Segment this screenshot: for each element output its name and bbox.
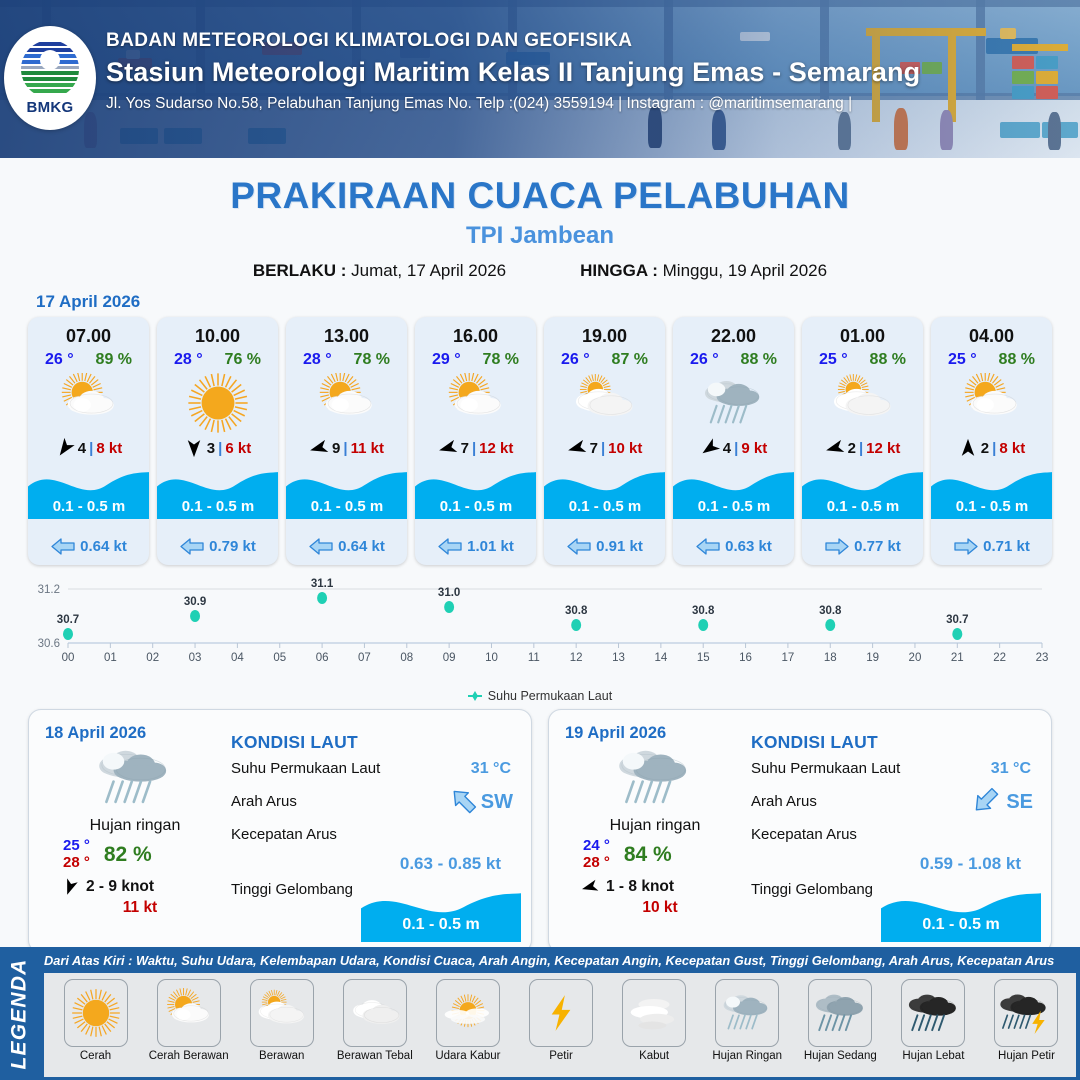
svg-text:31.1: 31.1 [311,578,334,590]
wind-separator: | [343,440,347,457]
forecast-wind: 4 | 9 kt [673,438,794,458]
kabut-icon [626,987,682,1039]
wind-separator: | [89,440,93,457]
daily-temperatures: 25 ° 28 ° 82 % [45,838,225,872]
svg-text:21: 21 [951,652,964,664]
forecast-time: 22.00 [673,326,794,347]
wind-gust: 12 kt [479,440,513,457]
current-speed-label: Kecepatan Arus [231,826,337,843]
daily-sea-column: KONDISI LAUT Suhu Permukaan Laut 31 °C A… [745,710,1051,952]
forecast-card: 07.00 26 ° 89 % 4 | 8 kt 0.1 - 0.5 m 0.6… [28,317,149,565]
berawan-icon [567,373,643,433]
svg-text:16: 16 [739,652,752,664]
svg-text:30.8: 30.8 [565,605,588,617]
forecast-card: 16.00 29 ° 78 % 7 | 12 kt 0.1 - 0.5 m 1.… [415,317,536,565]
wind-separator: | [859,440,863,457]
daily-condition: Hujan ringan [565,817,745,835]
wind-direction-icon [307,436,331,460]
forecast-weather-icon [415,372,536,434]
svg-text:30.7: 30.7 [946,614,968,626]
forecast-humidity: 89 % [96,351,132,369]
wind-separator: | [992,440,996,457]
forecast-time: 19.00 [544,326,665,347]
hujan-ringan-icon [89,741,181,815]
sst-value: 31 °C [991,760,1031,778]
legend-icon-box [901,979,965,1047]
forecast-card: 01.00 25 ° 88 % 2 | 12 kt 0.1 - 0.5 m [802,317,923,565]
legend-item-label: Udara Kabur [435,1050,500,1062]
hujan-sedang-icon [812,987,868,1039]
current-speed: 0.71 kt [983,538,1030,555]
forecast-humidity: 76 % [225,351,261,369]
svg-text:00: 00 [62,652,75,664]
legend-icon-box [436,979,500,1047]
page-title: PRAKIRAAN CUACA PELABUHAN [0,175,1080,217]
forecast-weather-icon [28,372,149,434]
berawan-icon [825,373,901,433]
forecast-time: 01.00 [802,326,923,347]
daily-summary-row: 18 April 2026 Hujan ringan 25 ° 28 ° 82 … [0,703,1080,953]
forecast-wave-height: 0.1 - 0.5 m [157,498,278,515]
legend-icon-box [157,979,221,1047]
legend-item: Petir [515,979,606,1062]
daily-humidity: 84 % [624,843,672,867]
sst-value: 31 °C [471,760,511,778]
wind-separator: | [601,440,605,457]
wind-gust: 8 kt [999,440,1025,457]
current-speed-label: Kecepatan Arus [751,826,857,843]
legend-item: Cerah [50,979,141,1062]
forecast-wind: 3 | 6 kt [157,438,278,458]
forecast-card: 10.00 28 ° 76 % 3 | 6 kt 0.1 - 0.5 m 0.7… [157,317,278,565]
udara-kabur-icon [440,987,496,1039]
logo-label: BMKG [26,99,73,116]
forecast-weather-icon [673,372,794,434]
hujan-ringan-icon [696,373,772,433]
cerah-berawan-icon [161,987,217,1039]
wind-gust: 9 kt [741,440,767,457]
legend-item-label: Cerah Berawan [149,1050,229,1062]
forecast-date-label: 17 April 2026 [36,292,1080,312]
cerah-berawan-icon [954,373,1030,433]
forecast-wave-height: 0.1 - 0.5 m [544,498,665,515]
current-direction-icon [696,538,720,555]
forecast-temperature: 26 ° [690,351,719,369]
daily-humidity: 82 % [104,843,152,867]
svg-text:13: 13 [612,652,625,664]
legend-icon-box [64,979,128,1047]
wind-separator: | [218,440,222,457]
wave-height-label: Tinggi Gelombang [231,881,353,898]
current-direction-icon [51,538,75,555]
legend-icon-box [343,979,407,1047]
forecast-humidity: 78 % [483,351,519,369]
forecast-temperature: 29 ° [432,351,461,369]
current-speed: 0.77 kt [854,538,901,555]
legend-icon-box [250,979,314,1047]
current-direction-label: Arah Arus [231,793,297,810]
daily-temp-max: 28 ° [583,855,610,872]
daily-wind-range: 2 - 9 knot [86,878,154,896]
current-direction-icon [968,782,1008,822]
daily-temp-min: 25 ° [63,838,90,855]
current-direction-icon [442,782,482,822]
forecast-current: 0.79 kt [157,538,278,555]
page-header: BMKG BADAN METEOROLOGI KLIMATOLOGI DAN G… [0,0,1080,158]
valid-from-value: Jumat, 17 April 2026 [351,261,506,280]
agency-name: BADAN METEOROLOGI KLIMATOLOGI DAN GEOFIS… [106,30,1066,52]
svg-text:18: 18 [824,652,837,664]
valid-until-label: HINGGA : [580,261,658,280]
forecast-wave-height: 0.1 - 0.5 m [28,498,149,515]
forecast-humidity: 78 % [354,351,390,369]
forecast-temperature: 26 ° [561,351,590,369]
forecast-humidity: 88 % [999,351,1035,369]
sst-chart: 31.230.600010203040506070809101112131415… [0,575,1080,693]
daily-gust: 11 kt [45,899,225,917]
sst-row: Suhu Permukaan Laut 31 °C [751,760,1035,786]
forecast-wind: 2 | 12 kt [802,438,923,458]
legend-icon-box [529,979,593,1047]
cerah-berawan-icon [309,373,385,433]
wind-speed: 3 [207,440,215,457]
wind-direction-icon [184,438,204,458]
forecast-temperature: 28 ° [174,351,203,369]
current-speed: 0.63 kt [725,538,772,555]
svg-text:01: 01 [104,652,117,664]
svg-text:30.7: 30.7 [57,614,79,626]
current-speed: 1.01 kt [467,538,514,555]
current-direction-row: Arah Arus SW [231,793,515,819]
sea-conditions-title: KONDISI LAUT [751,732,1035,753]
daily-condition: Hujan ringan [45,817,225,835]
svg-text:14: 14 [654,652,667,664]
legend-item-label: Berawan [259,1050,304,1062]
daily-summary-panel: 19 April 2026 Hujan ringan 24 ° 28 ° 84 … [548,709,1052,953]
cerah-icon [180,373,256,433]
legend-title: LEGENDA [8,958,32,1069]
forecast-humidity: 88 % [870,351,906,369]
forecast-weather-icon [157,372,278,434]
current-speed: 0.91 kt [596,538,643,555]
legend-item: Berawan [236,979,327,1062]
daily-left-column: 19 April 2026 Hujan ringan 24 ° 28 ° 84 … [549,710,745,952]
legend-item-label: Kabut [639,1050,669,1062]
forecast-time: 10.00 [157,326,278,347]
legend-item-label: Hujan Lebat [902,1050,964,1062]
wind-gust: 10 kt [608,440,642,457]
daily-wind: 1 - 8 knot [565,878,745,896]
forecast-time: 04.00 [931,326,1052,347]
svg-text:20: 20 [909,652,922,664]
forecast-current: 1.01 kt [415,538,536,555]
forecast-current: 0.64 kt [286,538,407,555]
station-name: Stasiun Meteorologi Maritim Kelas II Tan… [106,57,1066,88]
valid-until-value: Minggu, 19 April 2026 [663,261,827,280]
forecast-wind: 4 | 8 kt [28,438,149,458]
validity-row: BERLAKU : Jumat, 17 April 2026 HINGGA : … [0,261,1080,281]
sst-row: Suhu Permukaan Laut 31 °C [231,760,515,786]
location-subtitle: TPI Jambean [0,222,1080,250]
wind-gust: 11 kt [351,440,384,457]
forecast-wave-height: 0.1 - 0.5 m [802,498,923,515]
wind-speed: 2 [981,440,989,457]
forecast-time: 07.00 [28,326,149,347]
daily-gust: 10 kt [565,899,745,917]
current-direction-row: Arah Arus SE [751,793,1035,819]
svg-text:17: 17 [782,652,795,664]
current-speed: 0.64 kt [80,538,127,555]
forecast-current: 0.64 kt [28,538,149,555]
forecast-weather-icon [931,372,1052,434]
forecast-current: 0.71 kt [931,538,1052,555]
wind-direction-icon [579,876,601,898]
wind-direction-icon [58,875,81,898]
title-section: PRAKIRAAN CUACA PELABUHAN TPI Jambean BE… [0,175,1080,281]
daily-wind: 2 - 9 knot [45,878,225,896]
forecast-time: 13.00 [286,326,407,347]
cerah-icon [68,987,124,1039]
wind-speed: 9 [332,440,340,457]
wind-speed: 4 [723,440,731,457]
wind-speed: 7 [461,440,469,457]
wind-speed: 7 [590,440,598,457]
legend-icon-box [808,979,872,1047]
svg-text:23: 23 [1036,652,1049,664]
cerah-berawan-icon [51,373,127,433]
legend-note: Dari Atas Kiri : Waktu, Suhu Udara, Kele… [44,953,1074,968]
current-direction-label: Arah Arus [751,793,817,810]
current-direction-icon [309,538,333,555]
forecast-card: 04.00 25 ° 88 % 2 | 8 kt 0.1 - 0.5 m 0.7… [931,317,1052,565]
svg-text:03: 03 [189,652,202,664]
legend-item-label: Hujan Sedang [804,1050,877,1062]
valid-from-label: BERLAKU : [253,261,347,280]
legend-title-bar: LEGENDA [0,947,40,1080]
daily-temp-min: 24 ° [583,838,610,855]
legend-item: Hujan Lebat [888,979,979,1062]
wind-gust: 8 kt [96,440,122,457]
sst-label: Suhu Permukaan Laut [231,760,380,777]
forecast-weather-icon [544,372,665,434]
forecast-humidity: 87 % [612,351,648,369]
legend-item: Cerah Berawan [143,979,234,1062]
forecast-temperature: 25 ° [819,351,848,369]
hujan-lebat-icon [905,987,961,1039]
svg-text:05: 05 [273,652,286,664]
forecast-temperature: 25 ° [948,351,977,369]
wind-direction-icon [822,436,846,460]
daily-temperatures: 24 ° 28 ° 84 % [565,838,745,872]
wind-direction-icon [696,434,724,462]
legend-item-label: Hujan Ringan [712,1050,782,1062]
forecast-current: 0.77 kt [802,538,923,555]
svg-text:02: 02 [146,652,159,664]
forecast-current: 0.91 kt [544,538,665,555]
wind-gust: 6 kt [225,440,251,457]
daily-wave-value: 0.1 - 0.5 m [361,916,521,934]
forecast-weather-icon [286,372,407,434]
svg-text:30.8: 30.8 [692,605,715,617]
legend-icon-box [715,979,779,1047]
legend-item: Hujan Ringan [702,979,793,1062]
svg-text:19: 19 [866,652,879,664]
svg-text:06: 06 [316,652,329,664]
svg-text:22: 22 [993,652,1006,664]
forecast-wind: 9 | 11 kt [286,438,407,458]
forecast-card: 22.00 26 ° 88 % 4 | 9 kt 0.1 - 0.5 m [673,317,794,565]
cerah-berawan-icon [438,373,514,433]
svg-text:10: 10 [485,652,498,664]
legend-items: Cerah Cerah Berawan Berawan Beraw [44,973,1076,1077]
legend-item-label: Berawan Tebal [337,1050,413,1062]
forecast-card: 19.00 26 ° 87 % 7 | 10 kt 0.1 - 0.5 m [544,317,665,565]
current-direction-value: SE [1006,791,1033,814]
current-direction-icon [825,538,849,555]
forecast-time: 16.00 [415,326,536,347]
daily-wave-value: 0.1 - 0.5 m [881,916,1041,934]
daily-summary-panel: 18 April 2026 Hujan ringan 25 ° 28 ° 82 … [28,709,532,953]
current-direction-value: SW [481,791,513,814]
wind-direction-icon [435,436,459,460]
berawan-tebal-icon [347,987,403,1039]
valid-from: BERLAKU : Jumat, 17 April 2026 [253,261,506,281]
daily-weather-icon [565,741,745,815]
legend-item: Hujan Sedang [795,979,886,1062]
current-speed-row: Kecepatan Arus [751,826,1035,852]
forecast-wave-height: 0.1 - 0.5 m [286,498,407,515]
current-direction-icon [567,538,591,555]
hujan-ringan-icon [719,987,775,1039]
berawan-icon [254,987,310,1039]
forecast-card: 13.00 28 ° 78 % 9 | 11 kt 0.1 - 0.5 m 0.… [286,317,407,565]
forecast-current: 0.63 kt [673,538,794,555]
forecast-wave-height: 0.1 - 0.5 m [673,498,794,515]
daily-weather-icon [45,741,225,815]
legend-item: Hujan Petir [981,979,1072,1062]
legend-item: Kabut [609,979,700,1062]
svg-text:12: 12 [570,652,583,664]
forecast-wave-height: 0.1 - 0.5 m [931,498,1052,515]
wind-speed: 4 [78,440,86,457]
current-direction-icon [180,538,204,555]
legend-item-label: Petir [549,1050,573,1062]
petir-icon [533,987,589,1039]
svg-text:30.9: 30.9 [184,596,206,608]
legend-item: Berawan Tebal [329,979,420,1062]
svg-text:31.2: 31.2 [38,584,60,596]
svg-text:04: 04 [231,652,244,664]
svg-text:15: 15 [697,652,710,664]
svg-text:11: 11 [528,652,540,664]
current-direction-icon [954,538,978,555]
legend-item-label: Hujan Petir [998,1050,1055,1062]
current-speed-value: 0.59 - 1.08 kt [751,854,1035,874]
wind-direction-icon [51,434,79,462]
legend-section: LEGENDA Dari Atas Kiri : Waktu, Suhu Uda… [0,947,1080,1080]
wave-height-label: Tinggi Gelombang [751,881,873,898]
legend-icon-box [622,979,686,1047]
bmkg-logo: BMKG [4,26,96,130]
svg-text:09: 09 [443,652,456,664]
forecast-wave-height: 0.1 - 0.5 m [415,498,536,515]
current-direction-icon [438,538,462,555]
wind-speed: 2 [848,440,856,457]
daily-left-column: 18 April 2026 Hujan ringan 25 ° 28 ° 82 … [29,710,225,952]
wind-separator: | [734,440,738,457]
forecast-wind: 7 | 12 kt [415,438,536,458]
valid-until: HINGGA : Minggu, 19 April 2026 [580,261,827,281]
daily-wind-range: 1 - 8 knot [606,878,674,896]
wind-direction-icon [958,438,978,458]
legend-icon-box [994,979,1058,1047]
daily-temp-max: 28 ° [63,855,90,872]
sst-label: Suhu Permukaan Laut [751,760,900,777]
svg-text:31.0: 31.0 [438,587,460,599]
current-speed-value: 0.63 - 0.85 kt [231,854,515,874]
current-speed-row: Kecepatan Arus [231,826,515,852]
hujan-ringan-icon [609,741,701,815]
station-address: Jl. Yos Sudarso No.58, Pelabuhan Tanjung… [106,95,1066,113]
forecast-temperature: 26 ° [45,351,74,369]
bmkg-emblem-icon [21,40,79,98]
forecast-wind: 7 | 10 kt [544,438,665,458]
forecast-humidity: 88 % [741,351,777,369]
forecast-cards-row: 07.00 26 ° 89 % 4 | 8 kt 0.1 - 0.5 m 0.6… [0,317,1080,565]
svg-text:30.8: 30.8 [819,605,842,617]
daily-sea-column: KONDISI LAUT Suhu Permukaan Laut 31 °C A… [225,710,531,952]
current-speed: 0.64 kt [338,538,385,555]
sea-conditions-title: KONDISI LAUT [231,732,515,753]
legend-item: Udara Kabur [422,979,513,1062]
wind-direction-icon [564,436,588,460]
legend-item-label: Cerah [80,1050,111,1062]
forecast-temperature: 28 ° [303,351,332,369]
svg-text:08: 08 [400,652,413,664]
forecast-weather-icon [802,372,923,434]
forecast-wind: 2 | 8 kt [931,438,1052,458]
current-speed: 0.79 kt [209,538,256,555]
svg-text:30.6: 30.6 [38,638,60,650]
hujan-petir-icon [998,987,1054,1039]
svg-text:07: 07 [358,652,371,664]
wind-gust: 12 kt [866,440,900,457]
wind-separator: | [472,440,476,457]
